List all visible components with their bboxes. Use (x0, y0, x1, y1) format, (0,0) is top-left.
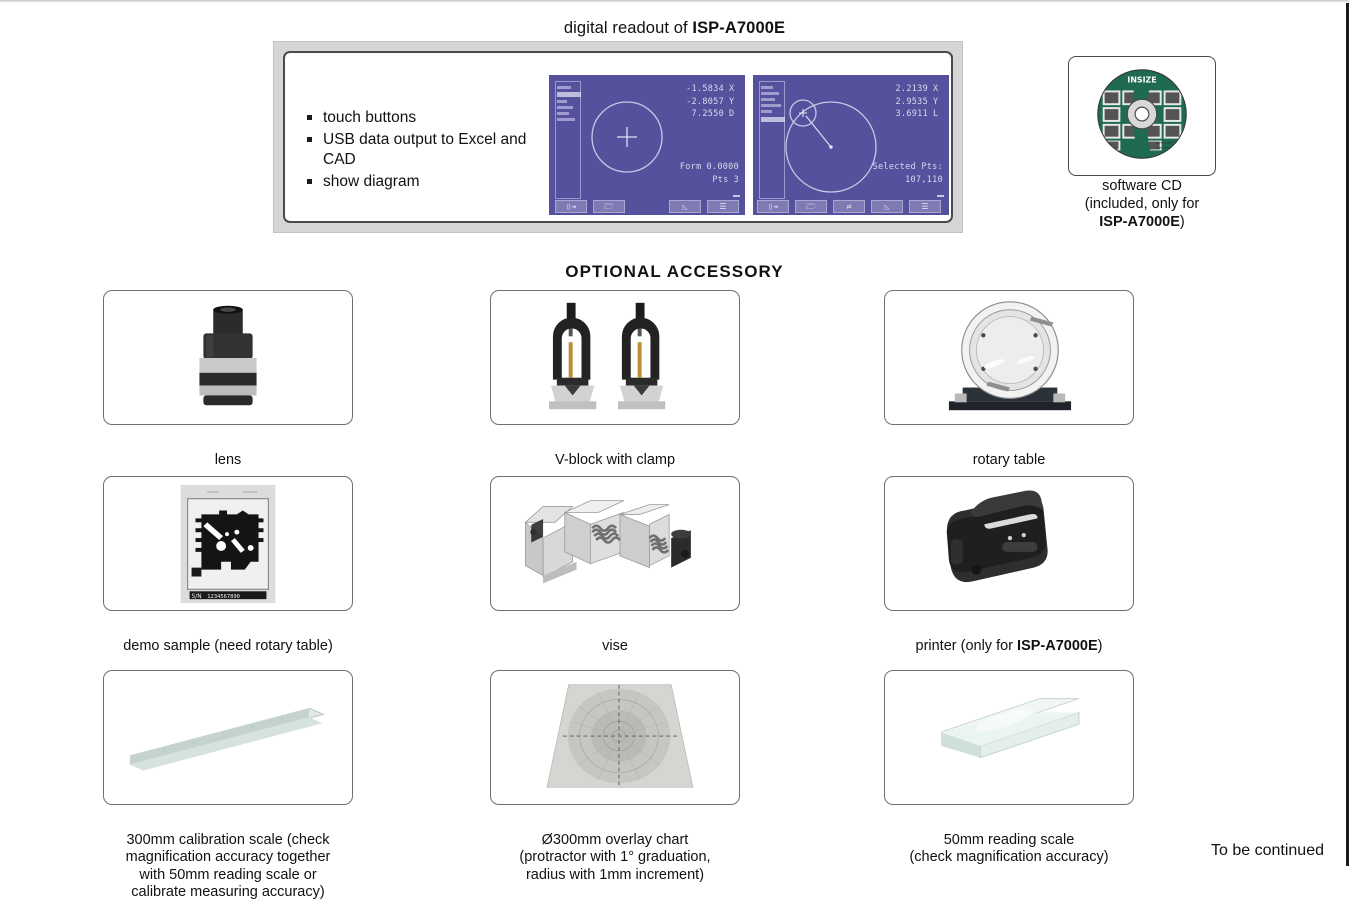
readout-value: -2.8057 (678, 96, 724, 109)
page-top-rule (0, 0, 1349, 3)
demo-sample-photo: samplemeasure (103, 476, 353, 611)
feature-label: show diagram (323, 173, 420, 190)
readout-value: 2.9535 (882, 96, 928, 109)
readout-axis: D (729, 108, 739, 121)
svg-text:measuring tools: measuring tools (1156, 145, 1180, 149)
caption-text: demo sample (need rotary table) (123, 638, 333, 654)
page-icon[interactable]: ◺ (669, 200, 701, 213)
info-value: 0.0000 (706, 162, 739, 172)
screen2-button-bar[interactable]: ▯⇥ 🗁 ⇄ ◺ ☰ (753, 198, 949, 215)
accessory-item-lens[interactable]: lens (83, 290, 373, 469)
page-icon[interactable]: ◺ (871, 200, 903, 213)
svg-text:measure: measure (243, 490, 258, 494)
list-item: touch buttons (307, 108, 557, 129)
info-label: Form (680, 162, 702, 172)
accessory-caption: V-block with clamp (470, 434, 760, 469)
screen2-readouts: 2.2139X 2.9535Y 3.6911L (882, 83, 943, 121)
cd-caption-line1: software CD (1040, 177, 1244, 195)
screen1-readouts: -1.5834X -2.8057Y 7.2550D (678, 83, 739, 121)
overlay-chart-photo (490, 670, 740, 805)
accessory-item-overlay-chart-300mm[interactable]: Ø300mm overlay chart (protractor with 1°… (470, 670, 760, 884)
accessory-grid: lens (0, 290, 1349, 860)
cursor-arrow-icon (733, 195, 740, 197)
cd-caption-tail: ) (1180, 214, 1185, 230)
accessory-caption: Ø300mm overlay chart (protractor with 1°… (470, 814, 760, 884)
accessory-caption: printer (only for ISP-A7000E) (864, 620, 1154, 655)
info-row: Selected Pts: (873, 161, 943, 174)
dro-screen-circle-measure: -1.5834X -2.8057Y 7.2550D Form0.0000 Pts… (549, 75, 745, 215)
readout-axis: X (933, 83, 943, 96)
cd-brand-text: INSIZE (1127, 76, 1156, 85)
readout-axis: X (729, 83, 739, 96)
readout-value: 3.6911 (882, 108, 928, 121)
software-cd-disc: INSIZE www.insize.com measuring tools (1069, 57, 1215, 175)
accessory-row: samplemeasure (0, 476, 1349, 666)
calibration-scale-photo (103, 670, 353, 805)
swap-icon[interactable]: ⇄ (833, 200, 865, 213)
v-block-with-clamp-photo (490, 290, 740, 425)
accessory-caption: lens (83, 434, 373, 469)
readout-row: 2.9535Y (882, 96, 943, 109)
info-row: Pts3 (680, 174, 739, 187)
dro-feature-list: touch buttons USB data output to Excel a… (307, 108, 557, 193)
printer-photo (884, 476, 1134, 611)
accessory-caption: demo sample (need rotary table) (83, 620, 373, 655)
part-to-part-icon[interactable]: ▯⇥ (757, 200, 789, 213)
to-be-continued-label: To be continued (1211, 842, 1324, 860)
info-value: 3 (734, 175, 739, 185)
readout-value: 7.2550 (678, 108, 724, 121)
dro-section-title: digital readout of ISP-A7000E (0, 18, 1349, 38)
cd-caption-model: ISP-A7000E (1099, 214, 1180, 230)
part-to-part-icon[interactable]: ▯⇥ (555, 200, 587, 213)
dro-title-model: ISP-A7000E (692, 19, 785, 37)
accessory-item-demo-sample[interactable]: samplemeasure (83, 476, 373, 655)
caption-text: lens (215, 452, 242, 468)
accessory-row: lens (0, 290, 1349, 472)
reading-scale-photo (884, 670, 1134, 805)
dro-title-prefix: digital readout of (564, 19, 693, 37)
caption-text: rotary table (973, 452, 1046, 468)
caption-text: Ø300mm overlay chart (protractor with 1°… (519, 832, 710, 883)
readout-row: -2.8057Y (678, 96, 739, 109)
feature-label: touch buttons (323, 109, 416, 126)
list-item: show diagram (307, 172, 557, 193)
accessory-caption: vise (470, 620, 760, 655)
accessory-item-calibration-scale-300mm[interactable]: 300mm calibration scale (check magnifica… (83, 670, 373, 902)
dro-screen-diagram: 2.2139X 2.9535Y 3.6911L Selected Pts: 10… (753, 75, 949, 215)
list-icon[interactable]: ☰ (707, 200, 739, 213)
accessory-caption: 300mm calibration scale (check magnifica… (83, 814, 373, 902)
folder-icon[interactable]: 🗁 (593, 200, 625, 213)
lens-photo (103, 290, 353, 425)
section-title-optional-accessory: OPTIONAL ACCESSORY (0, 262, 1349, 282)
folder-icon[interactable]: 🗁 (795, 200, 827, 213)
caption-model: ISP-A7000E (1017, 638, 1098, 654)
accessory-caption: 50mm reading scale (check magnification … (864, 814, 1154, 867)
svg-text:sample: sample (207, 490, 219, 494)
list-item: USB data output to Excel and CAD (307, 130, 557, 171)
dro-panel-inner: touch buttons USB data output to Excel a… (283, 51, 953, 223)
info-value: 107,110 (905, 175, 943, 185)
screen1-button-bar[interactable]: ▯⇥ 🗁 ◺ ☰ (549, 198, 745, 215)
readout-row: 3.6911L (882, 108, 943, 121)
caption-text: V-block with clamp (555, 452, 675, 468)
screen1-info: Form0.0000 Pts3 (680, 161, 739, 187)
screen2-info: Selected Pts: 107,110 (873, 161, 943, 187)
accessory-item-vise[interactable]: vise (470, 476, 760, 655)
accessory-item-v-block-with-clamp[interactable]: V-block with clamp (470, 290, 760, 469)
readout-axis: Y (933, 96, 943, 109)
caption-text: vise (602, 638, 628, 654)
bullet-square-icon (307, 115, 312, 120)
readout-row: 2.2139X (882, 83, 943, 96)
readout-row: -1.5834X (678, 83, 739, 96)
software-cd-caption: software CD (included, only for ISP-A700… (1040, 177, 1244, 231)
vise-photo (490, 476, 740, 611)
accessory-caption: rotary table (864, 434, 1154, 469)
accessory-item-printer[interactable]: printer (only for ISP-A7000E) (864, 476, 1154, 655)
info-label: Pts (712, 175, 728, 185)
accessory-item-rotary-table[interactable]: rotary table (864, 290, 1154, 469)
bullet-square-icon (307, 179, 312, 184)
dro-panel: touch buttons USB data output to Excel a… (273, 41, 963, 233)
info-row: 107,110 (873, 174, 943, 187)
cursor-arrow-icon (937, 195, 944, 197)
readout-value: -1.5834 (678, 83, 724, 96)
software-cd-card: INSIZE www.insize.com measuring tools (1068, 56, 1216, 176)
feature-label: USB data output to Excel and CAD (323, 131, 526, 169)
caption-tail: ) (1098, 638, 1103, 654)
svg-text:1234567890: 1234567890 (207, 594, 240, 600)
accessory-row: 300mm calibration scale (check magnifica… (0, 670, 1349, 860)
readout-axis: L (933, 108, 943, 121)
bullet-square-icon (307, 137, 312, 142)
readout-value: 2.2139 (882, 83, 928, 96)
caption-text: printer (only for (916, 638, 1018, 654)
accessory-item-reading-scale-50mm[interactable]: 50mm reading scale (check magnification … (864, 670, 1154, 867)
readout-row: 7.2550D (678, 108, 739, 121)
list-icon[interactable]: ☰ (909, 200, 941, 213)
caption-text: 50mm reading scale (check magnification … (909, 832, 1108, 866)
svg-text:S/N: S/N (192, 594, 202, 600)
info-row: Form0.0000 (680, 161, 739, 174)
info-label: Selected Pts: (873, 162, 943, 172)
rotary-table-photo (884, 290, 1134, 425)
readout-axis: Y (729, 96, 739, 109)
cd-caption-line2: (included, only for (1085, 196, 1199, 212)
